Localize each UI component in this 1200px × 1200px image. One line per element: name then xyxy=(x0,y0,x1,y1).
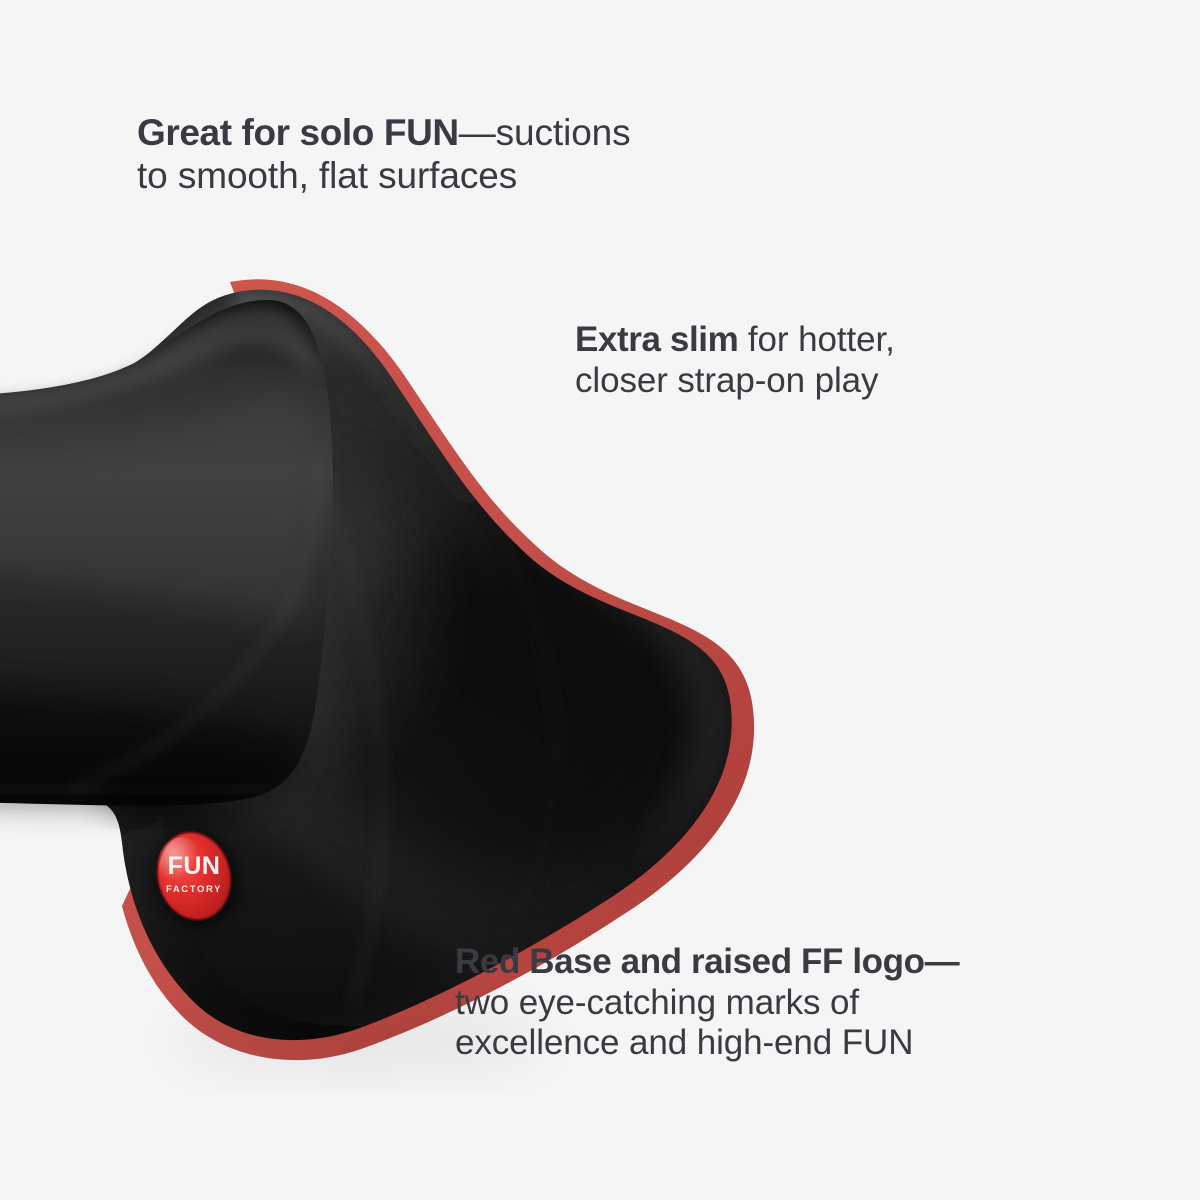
caption-slim-rest-1: for hotter, xyxy=(738,320,894,359)
caption-extra-slim: Extra slim for hotter, closer strap-on p… xyxy=(575,320,895,401)
caption-solo-line-1: Great for solo FUN—suctions xyxy=(137,112,631,155)
fun-factory-logo-badge: FUN FACTORY xyxy=(146,823,249,936)
product-shaft xyxy=(0,300,333,806)
caption-slim-lead: Extra slim xyxy=(575,320,738,359)
caption-slim-line-2: closer strap-on play xyxy=(575,361,895,402)
badge-brand-bottom: FACTORY xyxy=(166,884,222,895)
caption-logo-line-1: Red Base and raised FF logo— xyxy=(455,942,959,983)
caption-solo-line-2: to smooth, flat surfaces xyxy=(137,155,631,198)
caption-slim-rest-2: closer strap-on play xyxy=(575,361,878,400)
caption-solo-rest-2: to smooth, flat surfaces xyxy=(137,155,517,196)
badge-brand-top: FUN xyxy=(168,852,221,880)
caption-logo-rest-2: two eye-catching marks of xyxy=(455,983,859,1022)
caption-logo-line-3: excellence and high-end FUN xyxy=(455,1023,959,1064)
caption-solo-lead: Great for solo FUN xyxy=(137,112,459,153)
caption-solo-fun: Great for solo FUN—suctions to smooth, f… xyxy=(137,112,631,198)
caption-logo-lead: Red Base and raised FF logo xyxy=(455,942,925,981)
caption-red-base-logo: Red Base and raised FF logo— two eye-cat… xyxy=(455,942,959,1064)
caption-slim-line-1: Extra slim for hotter, xyxy=(575,320,895,361)
shaft-base-junction-shadow xyxy=(96,786,250,817)
caption-solo-rest-1: —suctions xyxy=(459,112,631,153)
caption-logo-rest-3: excellence and high-end FUN xyxy=(455,1023,913,1062)
caption-logo-line-2: two eye-catching marks of xyxy=(455,983,959,1024)
infographic-canvas: FUN FACTORY Great for solo FUN—suctions … xyxy=(0,0,1200,1200)
caption-logo-dash: — xyxy=(925,942,960,981)
